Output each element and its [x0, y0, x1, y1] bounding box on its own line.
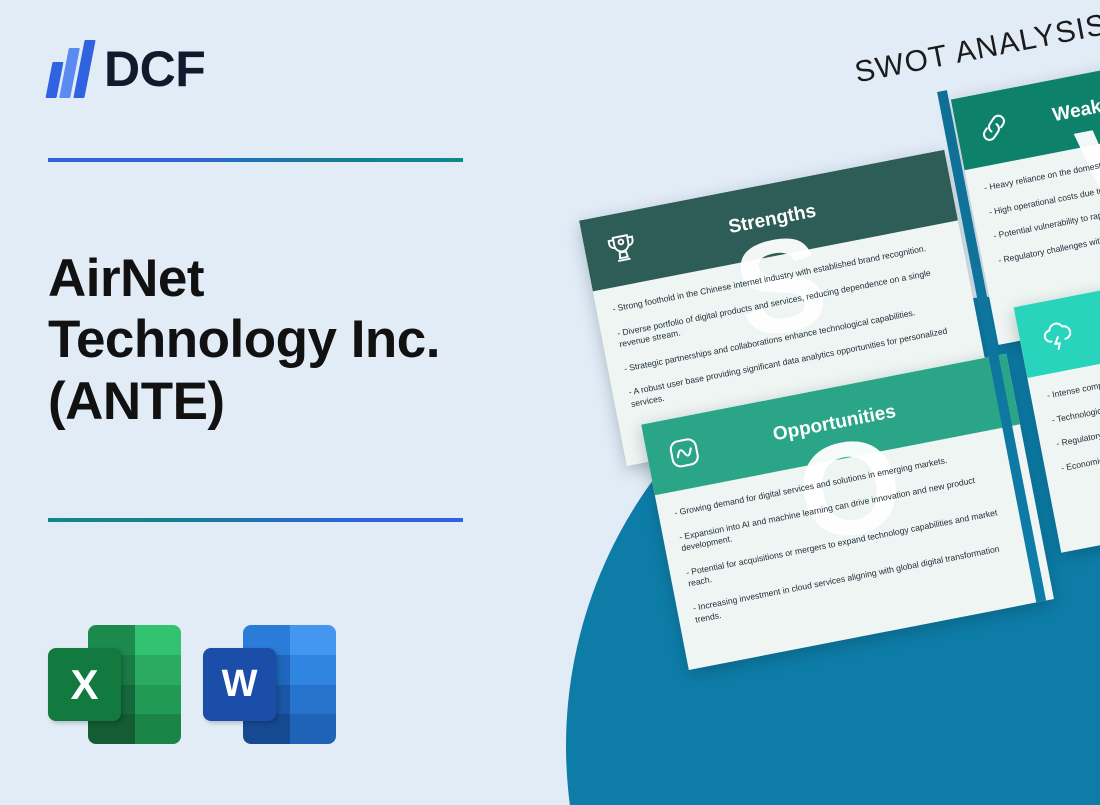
storm-cloud-icon	[1034, 313, 1079, 358]
bar-chart-logo-icon	[48, 40, 94, 98]
divider-top	[48, 158, 463, 162]
trophy-icon	[600, 227, 645, 272]
card-title-weaknesses: Weaknesses	[1011, 70, 1100, 135]
trend-wave-icon	[662, 431, 707, 476]
divider-bottom	[48, 518, 463, 522]
title-pane: DCF AirNet Technology Inc. (ANTE) X W	[0, 0, 560, 805]
word-file-icon[interactable]: W	[203, 622, 336, 747]
link-icon	[972, 106, 1017, 151]
excel-file-icon[interactable]: X	[48, 622, 181, 747]
page-title: AirNet Technology Inc. (ANTE)	[48, 248, 488, 432]
brand-logo[interactable]: DCF	[48, 40, 205, 98]
brand-name: DCF	[104, 44, 205, 94]
word-letter: W	[203, 648, 276, 721]
excel-letter: X	[48, 648, 121, 721]
download-links: X W	[48, 622, 336, 747]
